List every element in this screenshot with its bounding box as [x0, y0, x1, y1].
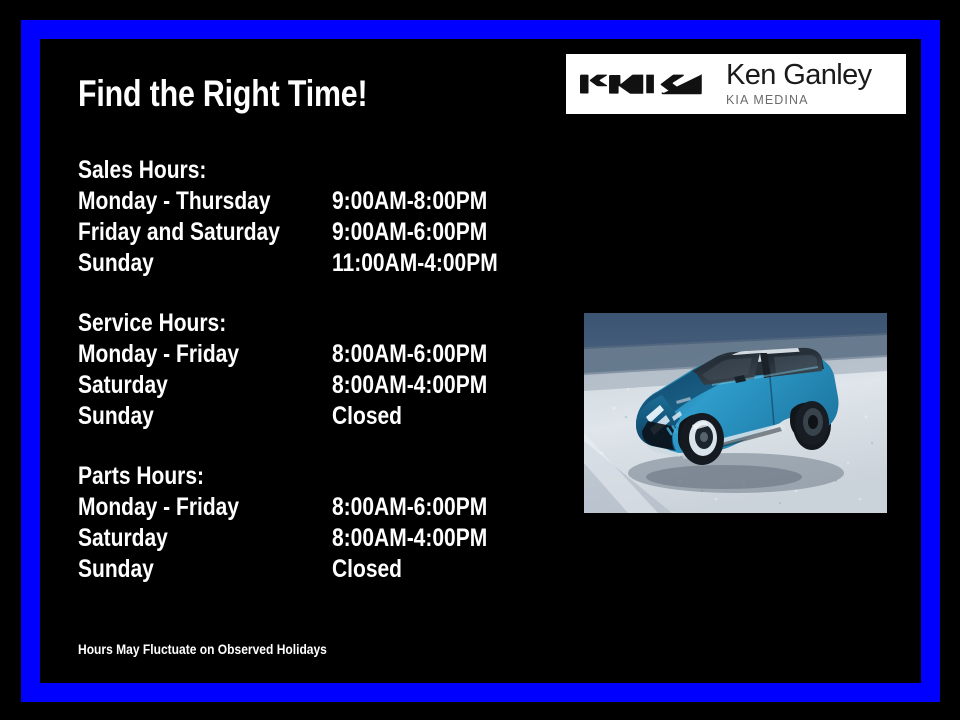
hours-day: Sunday [78, 401, 154, 432]
dealer-name: Ken Ganley [726, 61, 872, 90]
dealer-logo-text: Ken Ganley KIA MEDINA [726, 61, 872, 107]
hours-day: Saturday [78, 370, 168, 401]
ev9-illustration [584, 313, 887, 513]
hours-row: Saturday 8:00AM-4:00PM [78, 523, 548, 554]
kia-logo-mark [580, 68, 702, 100]
hours-slide: Find the Right Time! Sales Hours: Monday… [0, 0, 960, 720]
hours-time: 8:00AM-6:00PM [332, 492, 487, 523]
hours-time: 8:00AM-4:00PM [332, 523, 487, 554]
hours-row: Saturday 8:00AM-4:00PM [78, 370, 548, 401]
dealer-logo: Ken Ganley KIA MEDINA [566, 54, 906, 114]
hours-day: Monday - Thursday [78, 186, 271, 217]
hours-section-parts: Parts Hours: Monday - Friday 8:00AM-6:00… [78, 461, 548, 585]
section-heading: Service Hours: [78, 308, 473, 339]
hours-row: Monday - Friday 8:00AM-6:00PM [78, 492, 548, 523]
hours-time: 9:00AM-6:00PM [332, 217, 487, 248]
hours-row: Monday - Friday 8:00AM-6:00PM [78, 339, 548, 370]
hours-row: Sunday Closed [78, 401, 548, 432]
hours-row: Sunday Closed [78, 554, 548, 585]
hours-time: Closed [332, 401, 402, 432]
hours-time: 9:00AM-8:00PM [332, 186, 487, 217]
hours-day: Friday and Saturday [78, 217, 280, 248]
holiday-disclaimer: Hours May Fluctuate on Observed Holidays [78, 641, 327, 657]
hours-day: Sunday [78, 554, 154, 585]
section-heading: Parts Hours: [78, 461, 473, 492]
vehicle-photo [584, 313, 887, 513]
hours-day: Sunday [78, 248, 154, 279]
hours-day: Monday - Friday [78, 339, 239, 370]
hours-day: Monday - Friday [78, 492, 239, 523]
hours-list: Sales Hours: Monday - Thursday 9:00AM-8:… [78, 155, 548, 585]
hours-row: Monday - Thursday 9:00AM-8:00PM [78, 186, 548, 217]
page-title: Find the Right Time! [78, 75, 367, 114]
hours-section-service: Service Hours: Monday - Friday 8:00AM-6:… [78, 308, 548, 432]
hours-row: Friday and Saturday 9:00AM-6:00PM [78, 217, 548, 248]
section-heading: Sales Hours: [78, 155, 473, 186]
hours-section-sales: Sales Hours: Monday - Thursday 9:00AM-8:… [78, 155, 548, 279]
hours-time: Closed [332, 554, 402, 585]
hours-row: Sunday 11:00AM-4:00PM [78, 248, 548, 279]
hours-time: 8:00AM-4:00PM [332, 370, 487, 401]
hours-time: 11:00AM-4:00PM [332, 248, 498, 279]
hours-time: 8:00AM-6:00PM [332, 339, 487, 370]
hours-day: Saturday [78, 523, 168, 554]
dealer-subtitle: KIA MEDINA [726, 93, 872, 107]
